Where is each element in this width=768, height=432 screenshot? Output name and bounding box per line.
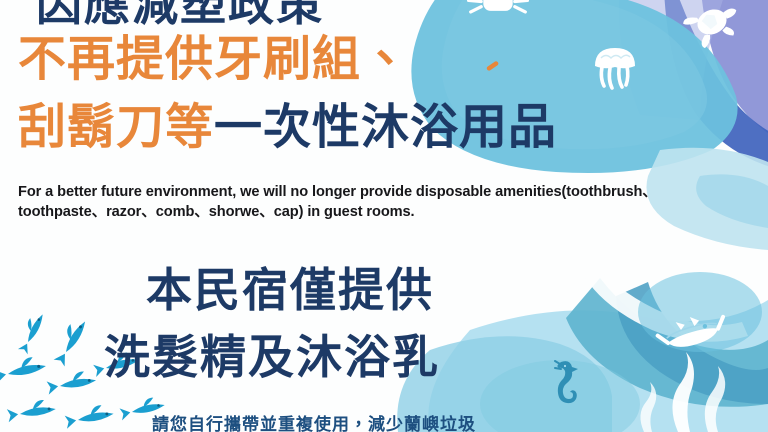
footnote-text: 請您自行攜帶並重複使用，減少蘭嶼垃圾 xyxy=(152,414,476,432)
poster-text-layer: 因應減塑政策 不再提供牙刷組、 刮鬍刀等一次性沐浴用品 For a better… xyxy=(0,0,768,432)
headline-mixed-line: 刮鬍刀等一次性沐浴用品 xyxy=(18,100,557,156)
secondary-line-2: 洗髮精及沐浴乳 xyxy=(104,330,440,384)
english-body-text: For a better future environment, we will… xyxy=(18,182,708,222)
secondary-line-1: 本民宿僅提供 xyxy=(146,263,434,317)
headline-mixed-navy-segment: 一次性沐浴用品 xyxy=(214,101,557,154)
eco-amenity-poster: 因應減塑政策 不再提供牙刷組、 刮鬍刀等一次性沐浴用品 For a better… xyxy=(0,0,768,432)
headline-mixed-orange-segment: 刮鬍刀等 xyxy=(18,101,214,154)
headline-orange-line: 不再提供牙刷組、 xyxy=(18,32,410,88)
headline-title-line: 因應減塑政策 xyxy=(36,0,324,30)
